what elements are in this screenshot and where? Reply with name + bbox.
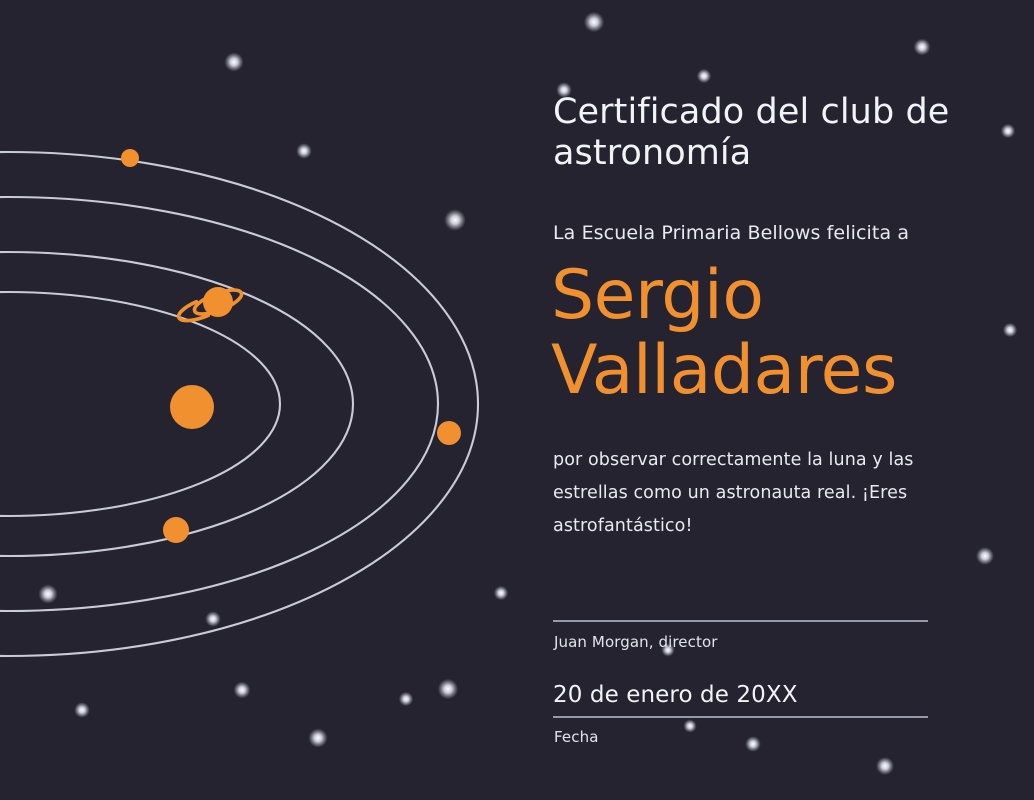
planet-small-top-icon [121, 149, 139, 167]
certificate-text-column: Certificado del club de astronomía La Es… [553, 0, 973, 800]
orbit-4-inner-path [0, 292, 280, 516]
date-value: 20 de enero de 20XX [553, 680, 798, 710]
date-label: Fecha [554, 726, 598, 748]
certificate-page: Certificado del club de astronomía La Es… [0, 0, 1034, 800]
orbit-2-path [0, 197, 438, 611]
citation-text: por observar correctamente la luna y las… [553, 444, 957, 543]
congratulation-line: La Escuela Primaria Bellows felicita a [553, 220, 973, 246]
planet-medium-icon [163, 517, 189, 543]
certificate-title: Certificado del club de astronomía [553, 92, 953, 174]
orbit-1-outer-path [0, 152, 478, 656]
planet-right-icon [437, 421, 461, 445]
signature-rule [553, 620, 928, 622]
date-rule [553, 716, 928, 718]
planet-large-sun-icon [170, 385, 214, 429]
planets [121, 149, 461, 543]
orbit-paths [0, 152, 478, 656]
signature-name: Juan Morgan, director [554, 631, 718, 653]
recipient-name: Sergio Valladares [551, 258, 981, 408]
planet-saturn-icon [176, 285, 245, 325]
